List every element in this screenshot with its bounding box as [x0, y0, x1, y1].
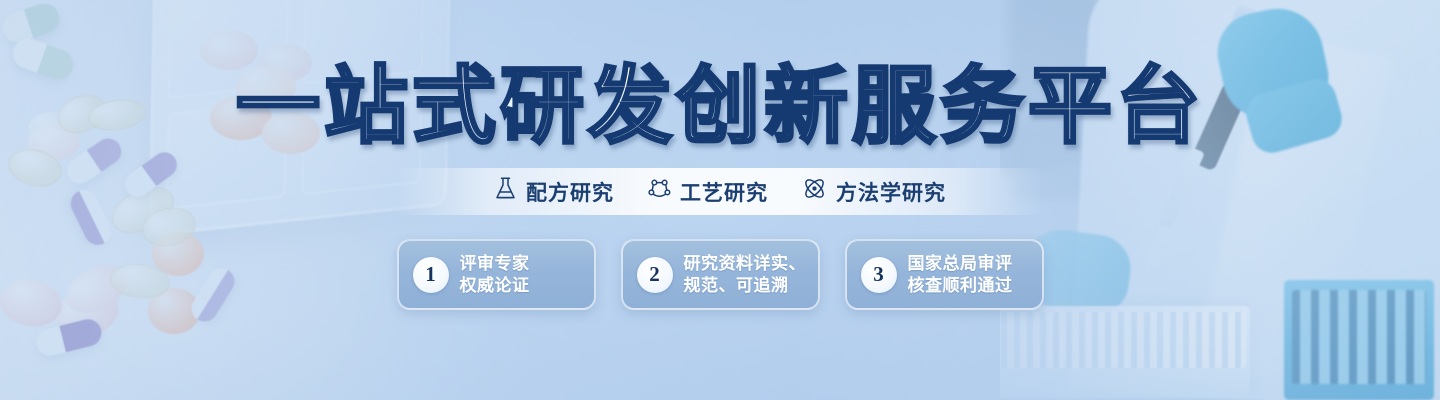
service-item-methodology[interactable]: 方法学研究	[802, 176, 946, 207]
service-label: 配方研究	[526, 177, 614, 207]
service-item-process[interactable]: 工艺研究	[648, 176, 768, 207]
feature-card-1[interactable]: 1 评审专家 权威论证	[397, 239, 596, 310]
feature-line-1: 国家总局审评	[908, 254, 1013, 273]
service-label: 方法学研究	[836, 177, 946, 207]
service-strip: 配方研究 工艺研究	[399, 168, 1041, 215]
service-item-formulation[interactable]: 配方研究	[494, 176, 614, 207]
feature-line-2: 规范、可追溯	[684, 275, 807, 297]
feature-line-1: 研究资料详实、	[684, 254, 807, 273]
feature-number-badge: 1	[413, 257, 449, 293]
feature-number-badge: 2	[637, 257, 673, 293]
feature-line-1: 评审专家	[460, 254, 530, 273]
feature-card-2[interactable]: 2 研究资料详实、 规范、可追溯	[621, 239, 820, 310]
service-label: 工艺研究	[680, 177, 768, 207]
flask-icon	[494, 176, 517, 207]
molecule-icon	[648, 176, 671, 207]
feature-card-3[interactable]: 3 国家总局审评 核查顺利通过	[845, 239, 1044, 310]
promo-banner: 一站式研发创新服务平台 配方研究	[0, 0, 1440, 400]
feature-line-2: 权威论证	[460, 275, 530, 297]
atom-icon	[802, 176, 827, 207]
feature-card-text: 研究资料详实、 规范、可追溯	[684, 253, 807, 297]
banner-title: 一站式研发创新服务平台	[236, 64, 1204, 148]
feature-card-text: 国家总局审评 核查顺利通过	[908, 253, 1013, 297]
feature-number-badge: 3	[861, 257, 897, 293]
feature-card-text: 评审专家 权威论证	[460, 253, 530, 297]
feature-line-2: 核查顺利通过	[908, 275, 1013, 297]
feature-card-list: 1 评审专家 权威论证 2 研究资料详实、 规范、可追溯 3 国家总局审评 核查…	[397, 239, 1044, 310]
